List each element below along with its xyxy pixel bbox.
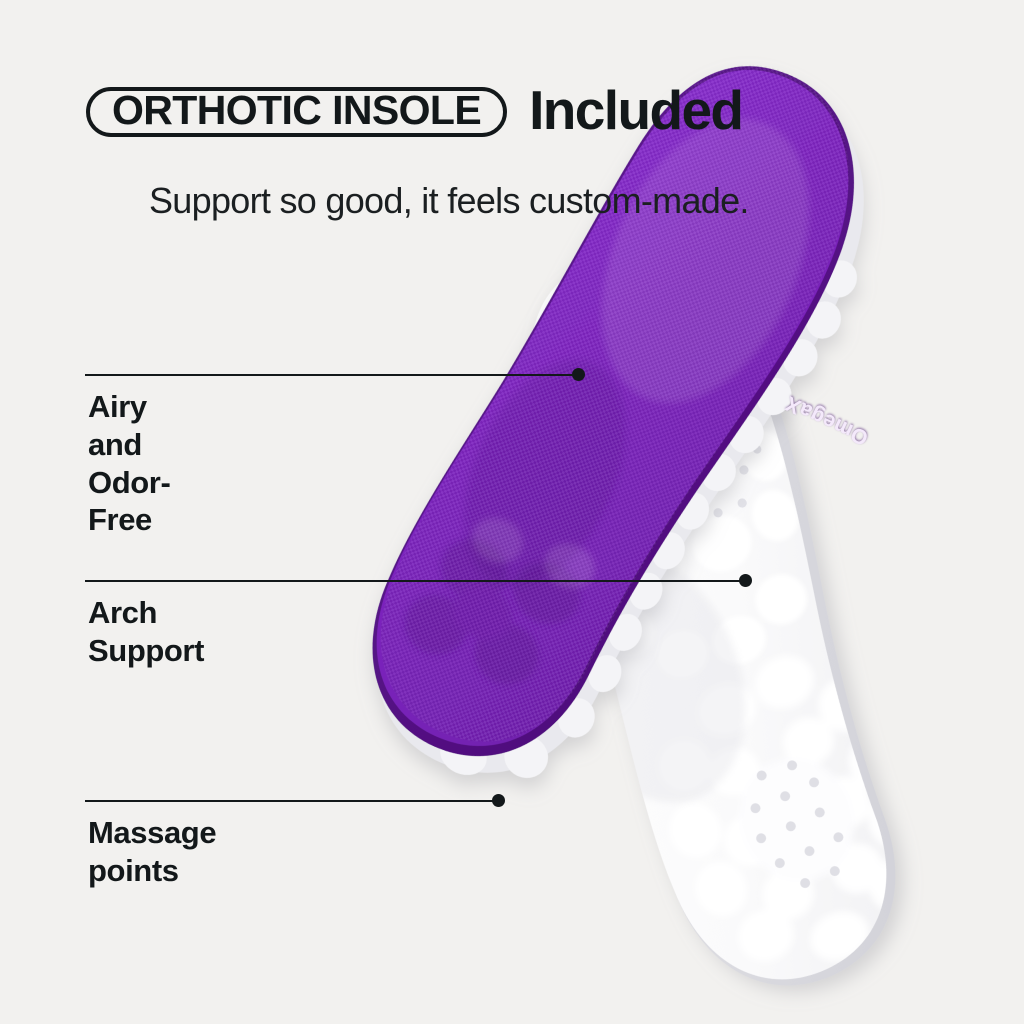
callout-label: Massage points bbox=[88, 814, 216, 890]
leader-line bbox=[85, 580, 745, 582]
orthotic-insole-badge: ORTHOTIC INSOLE bbox=[86, 87, 507, 137]
badge-label: ORTHOTIC INSOLE bbox=[112, 90, 481, 131]
product-infographic: OmegaX ORTHOTIC INSOLE Included Support … bbox=[0, 0, 1024, 1024]
leader-dot bbox=[739, 574, 752, 587]
callout-label: Arch Support bbox=[88, 594, 204, 670]
subtitle: Support so good, it feels custom-made. bbox=[149, 180, 749, 222]
leader-dot bbox=[572, 368, 585, 381]
leader-dot bbox=[492, 794, 505, 807]
callout-label: Airy and Odor-Free bbox=[88, 388, 170, 539]
headline: ORTHOTIC INSOLE Included bbox=[86, 86, 742, 138]
leader-line bbox=[85, 800, 498, 802]
headline-suffix: Included bbox=[529, 83, 742, 138]
leader-line bbox=[85, 374, 578, 376]
